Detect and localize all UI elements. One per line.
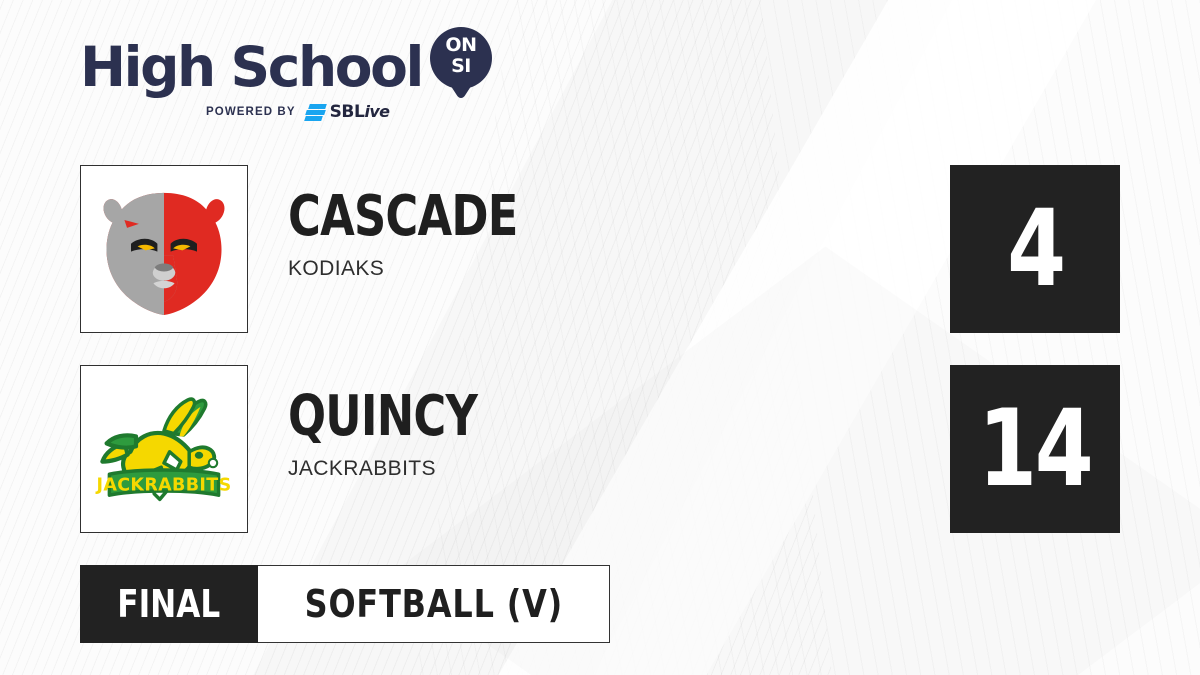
onsi-pin-icon: ON SI xyxy=(430,27,492,105)
sblive-s-icon xyxy=(305,103,327,121)
status-badge: FINAL xyxy=(80,565,258,643)
powered-by-row: POWERED BY SBLive xyxy=(206,102,540,122)
score-box-cascade: 4 xyxy=(950,165,1120,333)
team-name: QUINCY xyxy=(288,389,768,445)
team-mascot: JACKRABBITS xyxy=(288,457,888,481)
powered-by-label: POWERED BY xyxy=(206,106,296,118)
brand-logo: High School ON SI POWERED BY SBLive xyxy=(80,36,540,136)
bear-head-icon xyxy=(98,183,230,315)
pin-text: ON SI xyxy=(430,36,492,76)
brand-row: High School ON SI xyxy=(80,36,540,98)
jackrabbit-wordmark: JACKRABBITS xyxy=(95,475,231,495)
team-name: CASCADE xyxy=(288,189,768,245)
team-logo-box-cascade xyxy=(80,165,248,333)
team-text-cascade: CASCADE KODIAKS xyxy=(288,189,888,281)
sblive-word-main: SBL xyxy=(330,102,365,122)
pin-line-si: SI xyxy=(430,57,492,76)
sport-label-box: SOFTBALL (V) xyxy=(258,565,611,643)
pin-line-on: ON xyxy=(445,34,476,56)
jackrabbit-icon: JACKRABBITS xyxy=(94,379,234,519)
status-badge-label: FINAL xyxy=(117,582,220,626)
score-value: 14 xyxy=(978,396,1091,502)
team-text-quincy: QUINCY JACKRABBITS xyxy=(288,389,888,481)
game-status-bar: FINAL SOFTBALL (V) xyxy=(80,565,610,643)
team-mascot: KODIAKS xyxy=(288,257,888,281)
team-logo-box-quincy: JACKRABBITS xyxy=(80,365,248,533)
sport-label: SOFTBALL (V) xyxy=(304,582,562,626)
sblive-wordmark: SBLive xyxy=(330,102,390,122)
score-box-quincy: 14 xyxy=(950,365,1120,533)
score-value: 4 xyxy=(1007,196,1064,302)
sblive-word-suffix: ive xyxy=(364,102,389,121)
brand-wordmark: High School xyxy=(80,38,422,96)
